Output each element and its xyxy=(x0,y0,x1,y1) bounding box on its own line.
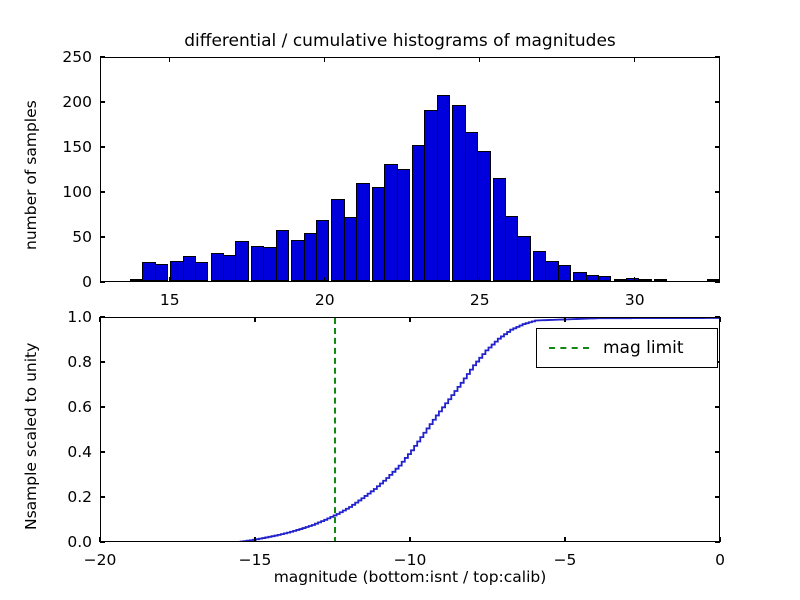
y-tick-label: 50 xyxy=(58,228,92,246)
x-tick-mark-top xyxy=(564,317,565,322)
x-tick-mark-top xyxy=(479,57,480,62)
y-tick-label: 0.4 xyxy=(58,443,92,461)
y-tick-mark-right xyxy=(715,316,720,317)
histogram-bar xyxy=(356,183,369,281)
histogram-bar xyxy=(195,262,208,281)
histogram-bar xyxy=(654,279,667,281)
mag-limit-line-icon xyxy=(549,347,589,349)
x-tick-label: 15 xyxy=(160,291,180,309)
y-tick-mark xyxy=(100,101,105,102)
top-y-axis-label: number of samples xyxy=(22,100,40,250)
histogram-bar xyxy=(558,265,571,281)
top-axes-differential-histogram xyxy=(100,57,720,282)
x-tick-mark-top xyxy=(254,317,255,322)
x-tick-mark-top xyxy=(324,57,325,62)
y-tick-mark-right xyxy=(715,236,720,237)
y-tick-label: 0 xyxy=(58,273,92,291)
x-tick-mark xyxy=(169,277,170,282)
histogram-bar xyxy=(397,169,410,281)
y-tick-mark xyxy=(100,496,105,497)
y-tick-mark xyxy=(100,406,105,407)
x-tick-mark xyxy=(254,537,255,542)
y-tick-mark xyxy=(100,146,105,147)
figure-title: differential / cumulative histograms of … xyxy=(0,31,800,51)
y-tick-label: 0.6 xyxy=(58,398,92,416)
y-tick-label: 150 xyxy=(58,138,92,156)
x-tick-label: 30 xyxy=(625,291,645,309)
y-tick-mark-right xyxy=(715,406,720,407)
x-tick-label: −15 xyxy=(239,551,272,569)
x-tick-label: −10 xyxy=(394,551,427,569)
legend[interactable]: mag limit xyxy=(536,328,718,368)
mag-limit-vline xyxy=(334,318,336,541)
y-tick-mark xyxy=(100,191,105,192)
histogram-bar xyxy=(155,264,168,281)
y-tick-mark xyxy=(100,451,105,452)
y-tick-label: 100 xyxy=(58,183,92,201)
x-tick-label: 20 xyxy=(315,291,335,309)
x-tick-mark xyxy=(564,537,565,542)
x-tick-mark-top xyxy=(99,317,100,322)
y-tick-mark-right xyxy=(715,101,720,102)
y-tick-mark xyxy=(100,541,105,542)
histogram-bar xyxy=(517,236,530,281)
x-tick-label: −5 xyxy=(554,551,577,569)
x-tick-mark xyxy=(409,537,410,542)
x-tick-mark-top xyxy=(634,57,635,62)
y-tick-label: 0.0 xyxy=(58,533,92,551)
x-tick-mark-top xyxy=(169,57,170,62)
x-tick-label: 25 xyxy=(470,291,490,309)
x-tick-label: −20 xyxy=(84,551,117,569)
y-tick-mark-right xyxy=(715,281,720,282)
x-tick-mark-top xyxy=(719,317,720,322)
y-tick-label: 0.2 xyxy=(58,488,92,506)
y-tick-mark-right xyxy=(715,191,720,192)
y-tick-mark-right xyxy=(715,56,720,57)
x-tick-mark xyxy=(324,277,325,282)
y-tick-mark xyxy=(100,281,105,282)
histogram-bar xyxy=(598,276,611,281)
legend-label-mag-limit: mag limit xyxy=(603,338,684,358)
x-axis-label: magnitude (bottom:isnt / top:calib) xyxy=(274,568,547,586)
y-tick-label: 200 xyxy=(58,93,92,111)
y-tick-mark-right xyxy=(715,496,720,497)
y-tick-mark-right xyxy=(715,146,720,147)
y-tick-mark xyxy=(100,316,105,317)
histogram-bar xyxy=(276,230,289,281)
x-tick-mark xyxy=(634,277,635,282)
x-tick-mark-top xyxy=(409,317,410,322)
y-tick-mark-right xyxy=(715,541,720,542)
y-tick-mark-right xyxy=(715,451,720,452)
x-tick-label: 0 xyxy=(715,551,725,569)
histogram-bar xyxy=(235,241,248,281)
y-tick-label: 0.8 xyxy=(58,353,92,371)
top-plot-area xyxy=(101,58,719,281)
y-tick-label: 250 xyxy=(58,48,92,66)
y-tick-mark xyxy=(100,56,105,57)
y-tick-mark xyxy=(100,236,105,237)
histogram-bar xyxy=(638,279,651,281)
histogram-bar xyxy=(316,220,329,281)
histogram-bar xyxy=(437,95,450,281)
figure-canvas: differential / cumulative histograms of … xyxy=(0,0,800,600)
y-tick-label: 1.0 xyxy=(58,308,92,326)
bottom-y-axis-label: Nsample scaled to unity xyxy=(22,343,40,530)
histogram-bar xyxy=(477,151,490,281)
x-tick-mark xyxy=(479,277,480,282)
y-tick-mark xyxy=(100,361,105,362)
